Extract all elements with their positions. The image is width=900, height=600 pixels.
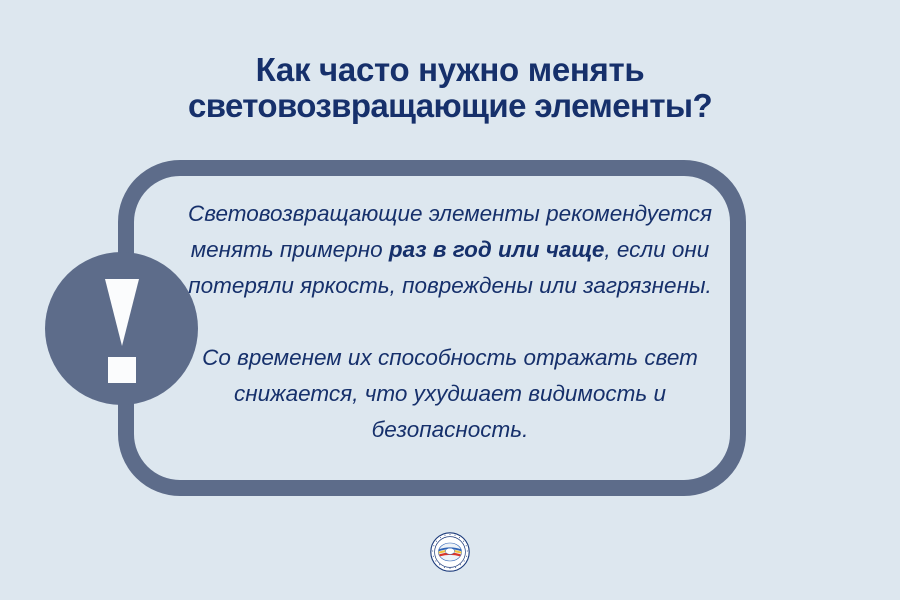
title-line-1: Как часто нужно менять [40, 52, 860, 88]
exclamation-dot-icon [108, 357, 136, 383]
poster-canvas: Как часто нужно менять световозвращающие… [0, 0, 900, 600]
official-seal-emblem [430, 532, 470, 572]
exclamation-badge [45, 252, 198, 405]
page-title: Как часто нужно менять световозвращающие… [0, 52, 900, 124]
title-line-2: световозвращающие элементы? [40, 88, 860, 124]
paragraph-first-highlight: раз в год или чаще [389, 237, 605, 262]
paragraph-second: Со временем их способность отражать свет… [178, 340, 722, 448]
exclamation-mark-icon [105, 279, 139, 346]
body-copy: Световозвращающие элементы рекомендуется… [178, 196, 722, 448]
paragraph-first: Световозвращающие элементы рекомендуется… [178, 196, 722, 304]
